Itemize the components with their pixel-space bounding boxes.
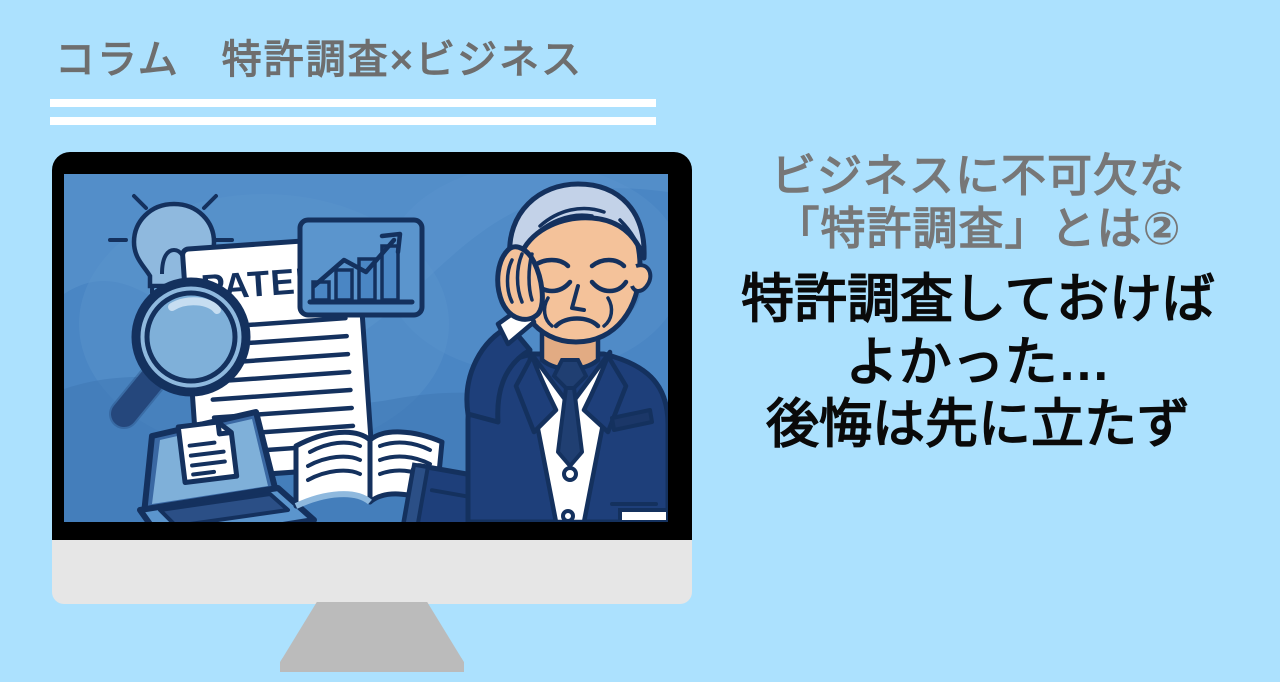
monitor-illustration: PATENT <box>52 152 692 604</box>
monitor-stand <box>280 602 464 672</box>
title-line-1: 特許調査しておけば <box>700 269 1256 332</box>
subtitle-line-2: 「特許調査」とは② <box>700 203 1256 256</box>
monitor-bezel: PATENT <box>52 152 692 542</box>
kicker-text: コラム 特許調査×ビジネス <box>55 40 583 80</box>
title-line-2: よかった… <box>700 332 1256 395</box>
header-rule-bottom <box>50 117 656 125</box>
monitor-screen: PATENT <box>64 174 668 522</box>
banner-stage: コラム 特許調査×ビジネス <box>0 0 1280 670</box>
headline-block: ビジネスに不可欠な 「特許調査」とは② 特許調査しておけば よかった… 後悔は先… <box>700 150 1256 457</box>
monitor-body <box>52 540 692 604</box>
title-line-3: 後悔は先に立たず <box>700 394 1256 457</box>
header-rule-top <box>50 99 656 107</box>
title-lines: 特許調査しておけば よかった… 後悔は先に立たず <box>700 269 1256 457</box>
subtitle-line-1: ビジネスに不可欠な <box>700 150 1256 203</box>
